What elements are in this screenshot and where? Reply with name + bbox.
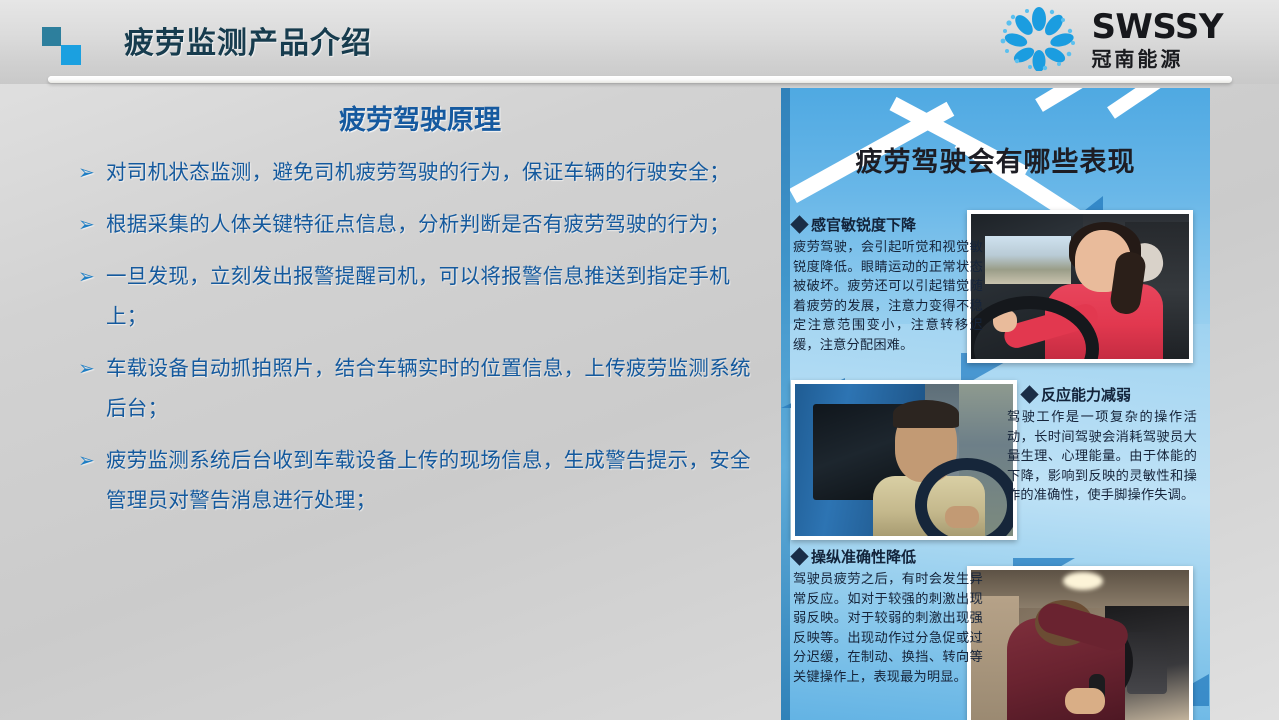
section-heading: 操纵准确性降低 xyxy=(793,546,983,567)
bullet-arrow-icon: ➢ xyxy=(78,204,106,244)
section-body-text: 驾驶工作是一项复杂的操作活动，长时间驾驶会消耗驾驶员大量生理、心理能量。由于体能… xyxy=(1007,408,1197,506)
bullet-list: ➢ 对司机状态监测，避免司机疲劳驾驶的行为，保证车辆的行驶安全； ➢ 根据采集的… xyxy=(78,152,768,532)
bullet-text: 疲劳监测系统后台收到车载设备上传的现场信息，生成警告提示，安全管理员对警告消息进… xyxy=(106,440,768,520)
infographic-section-1: 感官敏锐度下降 疲劳驾驶，会引起听觉和视觉敏锐度降低。眼睛运动的正常状态被破坏。… xyxy=(793,214,983,355)
photo-image xyxy=(971,570,1189,720)
section-heading: 感官敏锐度下降 xyxy=(793,214,983,235)
slumped-driver-photo xyxy=(967,566,1193,720)
list-item: ➢ 一旦发现，立刻发出报警提醒司机，可以将报警信息推送到指定手机上； xyxy=(78,256,768,336)
bullet-text: 对司机状态监测，避免司机疲劳驾驶的行为，保证车辆的行驶安全； xyxy=(106,152,768,192)
header-decor-squares xyxy=(42,27,92,67)
infographic-section-3: 操纵准确性降低 驾驶员疲劳之后，有时会发生异常反应。如对于较强的刺激出现弱反映。… xyxy=(793,546,983,687)
section-heading-text: 操纵准确性降低 xyxy=(811,546,916,567)
section-heading-text: 感官敏锐度下降 xyxy=(811,214,916,235)
decor-square-light xyxy=(61,45,81,65)
bullet-text: 根据采集的人体关键特征点信息，分析判断是否有疲劳驾驶的行为； xyxy=(106,204,768,244)
logo-brand-text: SWSSY xyxy=(1091,10,1223,44)
company-logo: SWSSY 冠南能源 xyxy=(997,6,1223,72)
section-body-text: 疲劳驾驶，会引起听觉和视觉敏锐度降低。眼睛运动的正常状态被破坏。疲劳还可以引起错… xyxy=(793,238,983,355)
list-item: ➢ 根据采集的人体关键特征点信息，分析判断是否有疲劳驾驶的行为； xyxy=(78,204,768,244)
content-heading: 疲劳驾驶原理 xyxy=(70,98,770,137)
truck-driver-photo xyxy=(791,380,1017,540)
logo-chinese-text: 冠南能源 xyxy=(1091,49,1223,69)
decor-square-dark xyxy=(42,27,61,46)
bullet-arrow-icon: ➢ xyxy=(78,440,106,480)
infographic-section-2: 反应能力减弱 驾驶工作是一项复杂的操作活动，长时间驾驶会消耗驾驶员大量生理、心理… xyxy=(1007,384,1197,506)
list-item: ➢ 车载设备自动抓拍照片，结合车辆实时的位置信息，上传疲劳监测系统后台； xyxy=(78,348,768,428)
diamond-bullet-icon xyxy=(1020,385,1038,403)
list-item: ➢ 对司机状态监测，避免司机疲劳驾驶的行为，保证车辆的行驶安全； xyxy=(78,152,768,192)
section-heading: 反应能力减弱 xyxy=(1007,384,1197,405)
section-heading-text: 反应能力减弱 xyxy=(1041,384,1131,405)
page-title: 疲劳监测产品介绍 xyxy=(124,18,372,62)
diamond-bullet-icon xyxy=(790,547,808,565)
logo-text-block: SWSSY 冠南能源 xyxy=(1091,10,1223,69)
slide-header: 疲劳监测产品介绍 xyxy=(0,0,1279,84)
bullet-text: 一旦发现，立刻发出报警提醒司机，可以将报警信息推送到指定手机上； xyxy=(106,256,768,336)
infographic-title: 疲劳驾驶会有哪些表现 xyxy=(781,140,1210,179)
bullet-arrow-icon: ➢ xyxy=(78,152,106,192)
bullet-arrow-icon: ➢ xyxy=(78,256,106,296)
section-body-text: 驾驶员疲劳之后，有时会发生异常反应。如对于较强的刺激出现弱反映。对于较弱的刺激出… xyxy=(793,570,983,687)
water-droplet-petal-emblem-icon xyxy=(997,7,1081,71)
photo-image xyxy=(795,384,1013,536)
tired-woman-driver-photo xyxy=(967,210,1193,363)
infographic-panel: 疲劳驾驶会有哪些表现 感官敏锐度下降 疲劳驾驶，会引起听觉和视觉敏锐度降低。眼睛… xyxy=(781,88,1210,720)
header-divider xyxy=(48,76,1232,83)
slide-root: 疲劳监测产品介绍 xyxy=(0,0,1279,720)
photo-image xyxy=(971,214,1189,359)
bullet-arrow-icon: ➢ xyxy=(78,348,106,388)
list-item: ➢ 疲劳监测系统后台收到车载设备上传的现场信息，生成警告提示，安全管理员对警告消… xyxy=(78,440,768,520)
diamond-bullet-icon xyxy=(790,215,808,233)
bullet-text: 车载设备自动抓拍照片，结合车辆实时的位置信息，上传疲劳监测系统后台； xyxy=(106,348,768,428)
